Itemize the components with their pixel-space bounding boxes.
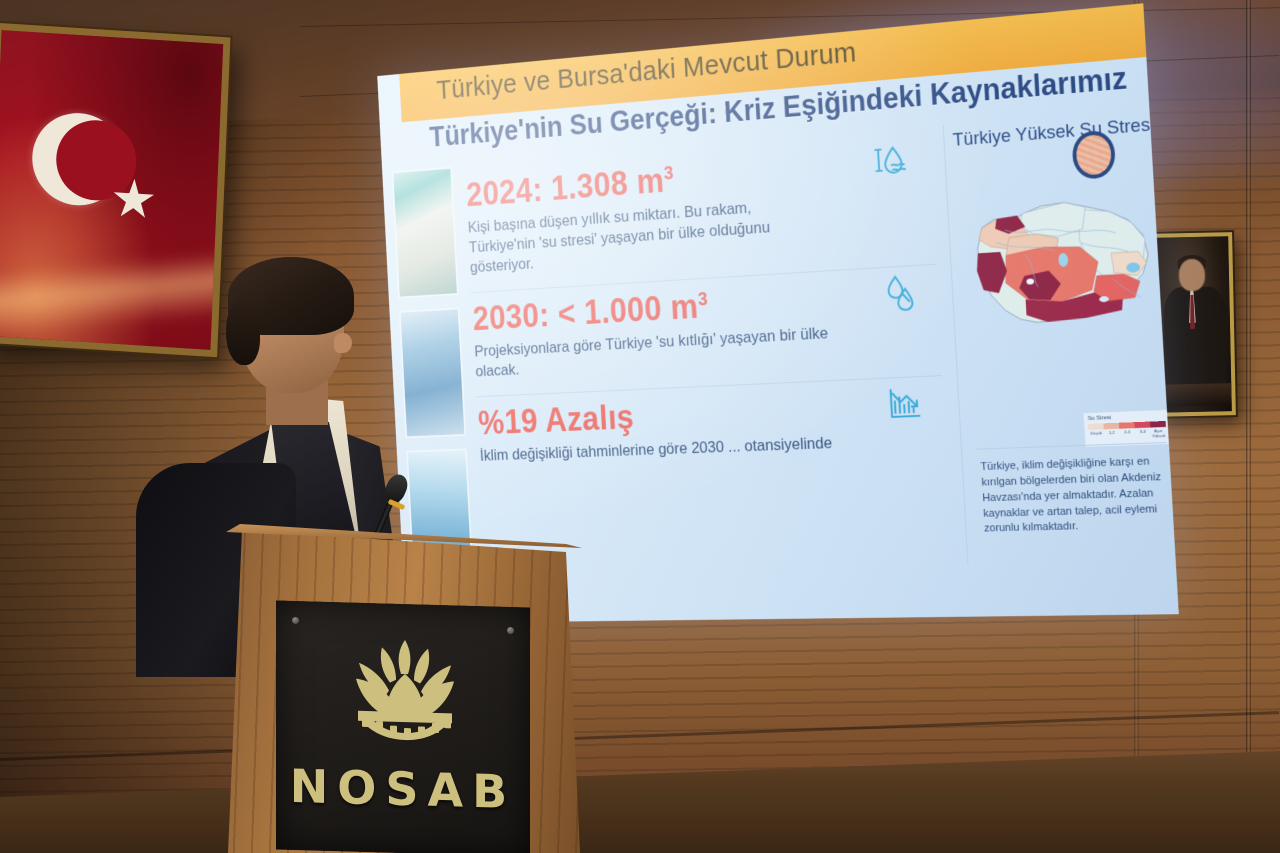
portrait-body: [1163, 286, 1227, 387]
map-svg: [963, 147, 1167, 453]
water-drop-waves-icon: [872, 140, 910, 181]
legend-swatch: [1134, 422, 1150, 429]
legend-swatch: [1103, 423, 1119, 430]
stat-headline-text: %19 Azalış: [477, 398, 635, 442]
portrait-desk: [1159, 383, 1235, 407]
presentation-room-photo: Türkiye ve Bursa'daki Mevcut Durum Türki…: [0, 0, 1280, 853]
stat-headline: %19 Azalış: [477, 384, 945, 443]
screw-icon: [507, 627, 514, 634]
legend-tick: 2-3: [1119, 429, 1135, 440]
legend-swatch: [1150, 421, 1166, 428]
map-title: Türkiye Yüksek Su Stresi Altında: [952, 115, 1149, 152]
nose: [334, 333, 352, 353]
stat-superscript: 3: [663, 163, 674, 184]
wall-corner-edge: [1246, 0, 1251, 853]
projection-screen: Türkiye ve Bursa'daki Mevcut Durum Türki…: [377, 3, 1179, 623]
stat-headline-text: 2030: < 1.000 m: [472, 287, 700, 338]
slide-surface: Türkiye ve Bursa'daki Mevcut Durum Türki…: [377, 3, 1179, 623]
screw-icon: [292, 617, 299, 624]
legend-tick: Aşırı Yüksek: [1150, 428, 1166, 439]
declining-chart-icon: [886, 383, 925, 423]
legend-tick: Düşük: [1088, 430, 1104, 441]
legend-swatch: [1088, 423, 1104, 430]
slide-left-column: 2024: 1.308 m3 Kişi başına düşen yıllık …: [465, 132, 947, 481]
legend-tick-labels: Düşük 1-2 2-3 3-4 Aşırı Yüksek: [1088, 428, 1166, 441]
two-drops-icon: [880, 272, 919, 313]
turkey-water-stress-map: Su Stresi Düşük 1-2 2-3 3-4: [963, 147, 1167, 453]
legend-swatch: [1119, 422, 1135, 429]
nosab-lotus-gear-logo-icon: [332, 632, 478, 752]
legend-tick: 1-2: [1104, 430, 1120, 441]
slide-footnote: Türkiye, iklim değişikliğine karşı en kı…: [980, 454, 1176, 538]
hair-side: [226, 301, 260, 365]
podium-brand-plaque: NOSAB: [276, 600, 530, 853]
stat-superscript: 3: [697, 289, 708, 310]
podium-brand-text: NOSAB: [276, 758, 530, 819]
slide-right-column: Türkiye Yüksek Su Stresi Altında: [962, 115, 1168, 453]
legend-tick: 3-4: [1135, 429, 1151, 440]
portrait-head: [1179, 259, 1206, 292]
